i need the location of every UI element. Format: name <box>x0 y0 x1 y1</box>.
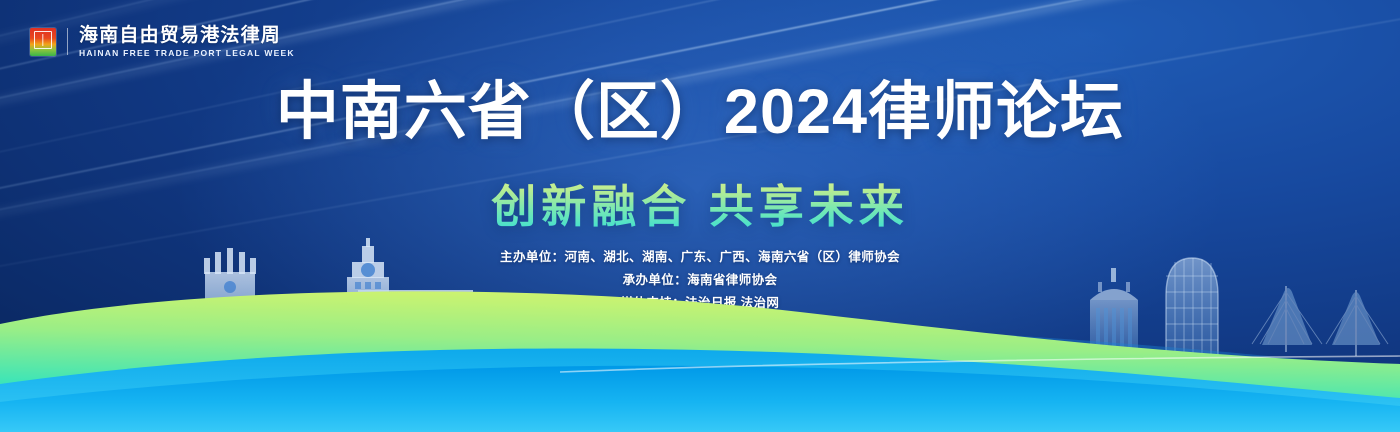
event-banner: 海南自由贸易港法律周 HAINAN FREE TRADE PORT LEGAL … <box>0 0 1400 432</box>
page-title: 中南六省（区）2024律师论坛 <box>0 78 1400 146</box>
logo-text-block: 海南自由贸易港法律周 HAINAN FREE TRADE PORT LEGAL … <box>79 26 295 58</box>
hainan-seal-mark-icon <box>30 28 56 56</box>
page-subtitle: 创新融合 共享未来 <box>0 170 1400 235</box>
foreground-waves <box>0 252 1400 432</box>
event-logo[interactable]: 海南自由贸易港法律周 HAINAN FREE TRADE PORT LEGAL … <box>30 26 295 58</box>
light-ray <box>0 0 1400 24</box>
logo-title-en: HAINAN FREE TRADE PORT LEGAL WEEK <box>79 49 295 58</box>
logo-title-cn: 海南自由贸易港法律周 <box>79 26 295 45</box>
logo-divider <box>67 28 68 55</box>
